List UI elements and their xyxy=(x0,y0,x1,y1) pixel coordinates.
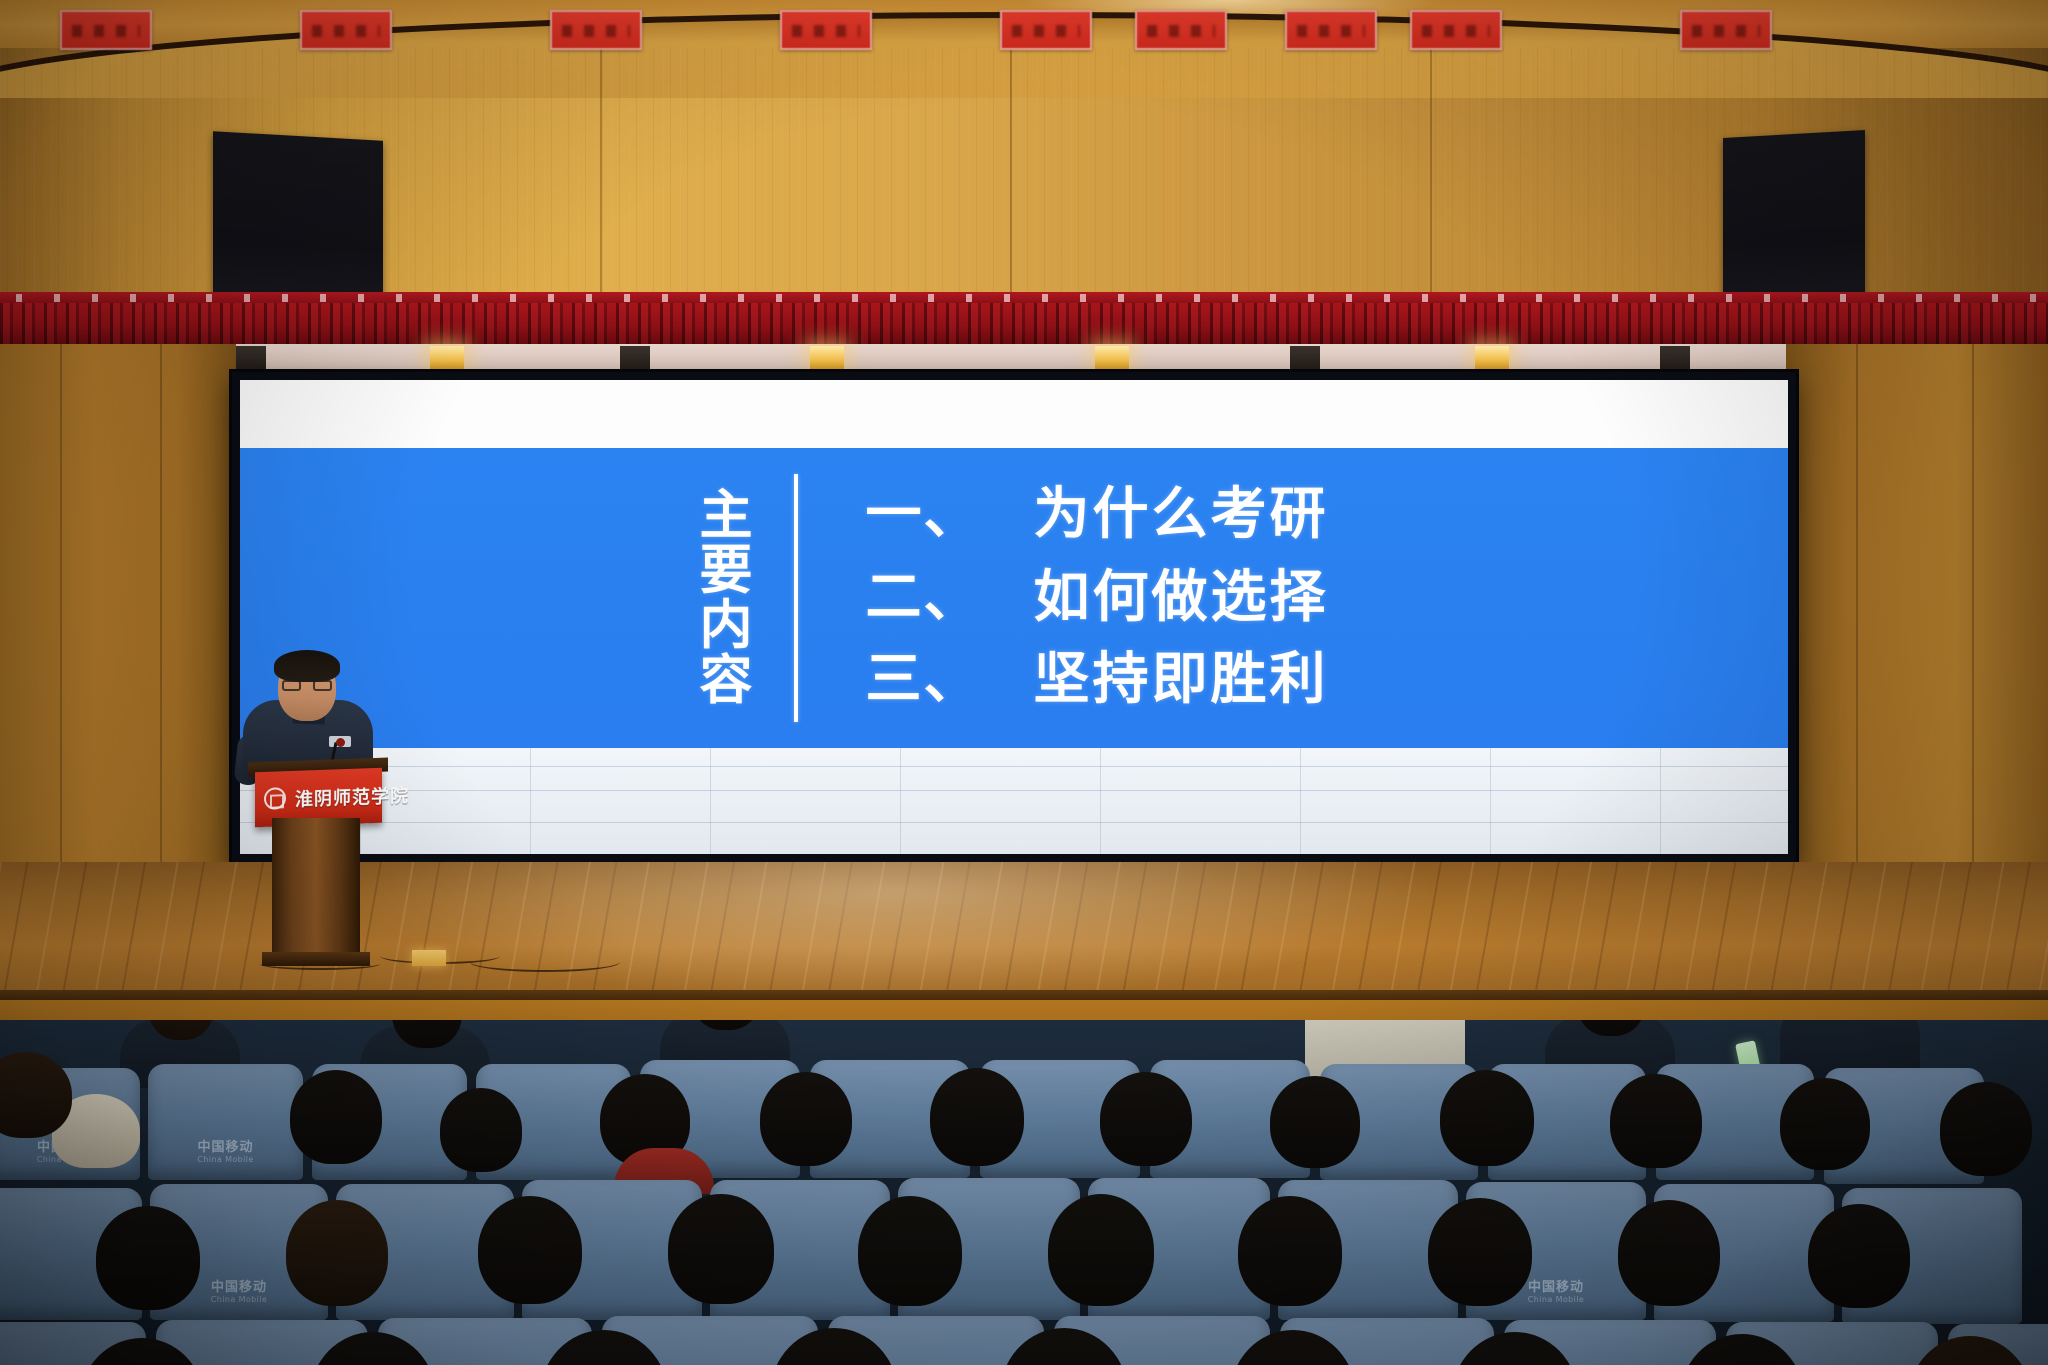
stage-cable xyxy=(470,952,620,972)
wood-panel-seam xyxy=(1010,48,1012,298)
audience-person-head xyxy=(1238,1196,1342,1306)
audience-person-head xyxy=(0,1052,72,1138)
audience-person-head xyxy=(1428,1198,1532,1306)
name-placard xyxy=(1135,10,1227,50)
auditorium-photo: 主 要 内 容 一、 为什么考研 二、 如何做选择 xyxy=(0,0,2048,1365)
audience-person-head xyxy=(1048,1194,1154,1306)
valance-pleats xyxy=(0,303,2048,348)
stage-lamp-off xyxy=(620,346,650,370)
wood-panel-seam xyxy=(600,48,602,298)
agenda-item-2: 二、 如何做选择 xyxy=(866,567,1329,630)
audience-person-head xyxy=(1610,1074,1702,1168)
name-placard xyxy=(300,10,392,50)
name-placard xyxy=(780,10,872,50)
agenda-item-2-number: 二、 xyxy=(866,567,1034,630)
name-placard xyxy=(60,10,152,50)
agenda-item-3-text: 坚持即胜利 xyxy=(1034,649,1329,712)
audience-person-head xyxy=(1808,1204,1910,1308)
agenda-item-3: 三、 坚持即胜利 xyxy=(866,649,1329,712)
audience-person-head xyxy=(668,1194,774,1304)
slide-divider-rule xyxy=(794,474,798,722)
audience-person-head xyxy=(760,1072,852,1166)
audience-person-head xyxy=(1100,1072,1192,1166)
proscenium-wood-wall xyxy=(0,48,2048,298)
agenda-item-2-text: 如何做选择 xyxy=(1034,567,1329,630)
slide-floor-graphic xyxy=(240,748,1788,854)
agenda-item-1: 一、 为什么考研 xyxy=(866,484,1329,547)
valance-studs xyxy=(0,294,2048,302)
stage-valance-curtain xyxy=(0,292,2048,348)
university-crest-icon xyxy=(264,787,286,810)
audience-person-head xyxy=(96,1206,200,1310)
agenda-item-1-number: 一、 xyxy=(866,484,1034,547)
stage-lamp-on xyxy=(1475,346,1509,370)
audience-seating-area: 中国移动China Mobile 中国移动China Mobile xyxy=(0,1020,2048,1365)
audience-person-head xyxy=(1440,1070,1534,1166)
audience-person-head xyxy=(440,1088,522,1172)
slide-agenda-list: 一、 为什么考研 二、 如何做选择 三、 坚持即胜利 xyxy=(866,484,1329,712)
slide-content: 主 要 内 容 一、 为什么考研 二、 如何做选择 xyxy=(240,448,1788,748)
slide-vertical-title: 主 要 内 容 xyxy=(700,488,754,708)
led-screen-bezel: 主 要 内 容 一、 为什么考研 二、 如何做选择 xyxy=(232,372,1796,862)
vtitle-char-1: 主 xyxy=(700,488,754,543)
microphone-head xyxy=(336,738,345,747)
stage-lamp-on xyxy=(1095,346,1129,370)
vtitle-char-2: 要 xyxy=(700,543,754,598)
podium-column xyxy=(272,818,360,958)
audience-person-head xyxy=(930,1068,1024,1166)
stage-lamp-on xyxy=(810,346,844,370)
name-placard xyxy=(1410,10,1502,50)
wood-panel-seam xyxy=(1430,48,1432,298)
stage-lamp-on xyxy=(430,346,464,370)
name-placard xyxy=(1285,10,1377,50)
vtitle-char-4: 容 xyxy=(700,653,754,708)
stage-lamp-off xyxy=(1660,346,1690,370)
stage-floor-reflection xyxy=(340,862,1440,1002)
name-placard xyxy=(1000,10,1092,50)
name-placard xyxy=(1680,10,1772,50)
audience-person-head xyxy=(478,1196,582,1304)
stage-lamp-off xyxy=(236,346,266,370)
speaker-hair xyxy=(274,650,340,682)
audience-person-head xyxy=(858,1196,962,1306)
seat-brand-label: 中国移动China Mobile xyxy=(148,1136,303,1164)
seat[interactable]: 中国移动China Mobile xyxy=(148,1064,303,1180)
slide-top-white-band xyxy=(240,380,1788,448)
audience-person-head xyxy=(1270,1076,1360,1168)
audience-person-head xyxy=(286,1200,388,1306)
agenda-item-1-text: 为什么考研 xyxy=(1034,484,1329,547)
speaker-glasses-icon xyxy=(282,680,332,691)
audience-person-head xyxy=(1618,1200,1720,1306)
podium-plaque-text: 淮阴师范学院 xyxy=(295,783,377,812)
audience-person-head xyxy=(290,1070,382,1164)
name-placard xyxy=(550,10,642,50)
audience-person-head xyxy=(1780,1078,1870,1170)
stage-lamp-off xyxy=(1290,346,1320,370)
agenda-item-3-number: 三、 xyxy=(866,649,1034,712)
vtitle-char-3: 内 xyxy=(700,598,754,653)
presentation-slide[interactable]: 主 要 内 容 一、 为什么考研 二、 如何做选择 xyxy=(240,380,1788,854)
audience-person-head xyxy=(1940,1082,2032,1176)
stage-light-fixture xyxy=(412,950,446,966)
podium-base xyxy=(262,952,370,966)
